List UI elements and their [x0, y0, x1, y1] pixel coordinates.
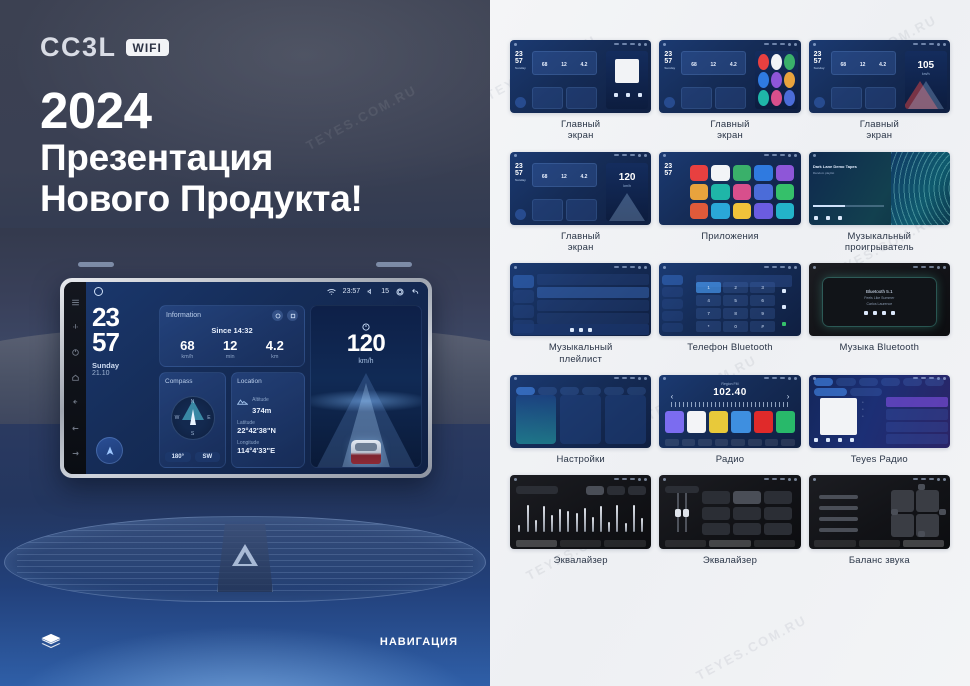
toolbar-button[interactable] — [698, 439, 712, 446]
wifi-icon — [614, 266, 619, 268]
equalizer-band[interactable] — [576, 513, 578, 533]
thumb-tab[interactable] — [903, 540, 944, 547]
equalizer-band[interactable] — [600, 506, 602, 533]
wifi-icon — [614, 43, 619, 45]
altitude-key: Altitude — [252, 397, 269, 403]
carplay-card[interactable] — [560, 395, 601, 443]
bluetooth-controls[interactable] — [864, 311, 895, 315]
clock-icon — [772, 43, 777, 45]
list-item[interactable] — [886, 397, 948, 407]
power-icon[interactable] — [71, 348, 80, 357]
list-item[interactable] — [537, 300, 649, 311]
layers-icon[interactable] — [40, 633, 62, 652]
equalizer-bars — [518, 499, 642, 533]
list-item[interactable] — [537, 287, 649, 298]
thumb-nav-fab — [515, 209, 526, 220]
gallery-item[interactable]: 2357 Sunday 68124.2 105 km/h Главныйэкра… — [809, 40, 950, 142]
clock-icon — [921, 43, 926, 45]
navigation-arrow-icon — [104, 445, 116, 457]
list-item[interactable] — [537, 274, 649, 285]
gallery-item[interactable]: 2357 Приложения — [659, 152, 800, 254]
sidebar-item[interactable] — [513, 290, 534, 303]
back-icon — [794, 43, 797, 46]
screenshot-thumbnail[interactable]: 2357 Sunday 68124.2 105 km/h — [809, 40, 950, 113]
player-controls[interactable] — [814, 216, 842, 220]
thumb-stat: 68 — [542, 62, 548, 68]
stop-icon[interactable] — [826, 438, 830, 442]
balance-down-button[interactable] — [918, 531, 925, 537]
wifi-card[interactable] — [516, 395, 557, 443]
location-widget[interactable]: Location Altitude 374m — [231, 372, 305, 468]
eq-mode-button[interactable] — [702, 491, 730, 504]
thumb-stat: 4.2 — [581, 174, 588, 180]
toolbar-button[interactable] — [765, 439, 779, 446]
list-item[interactable] — [886, 422, 948, 432]
teyes-tab[interactable] — [836, 378, 855, 386]
phone-actions[interactable] — [782, 282, 796, 332]
next-icon[interactable] — [891, 311, 895, 315]
equalizer-band[interactable] — [551, 515, 553, 532]
seat-position[interactable] — [916, 490, 939, 512]
mini-player[interactable] — [513, 324, 649, 335]
gallery-item[interactable]: Настройки — [510, 375, 651, 465]
gallery-item[interactable]: Dark Lane Demo Tapes Random playlist Муз… — [809, 152, 950, 254]
balance-right-button[interactable] — [939, 509, 946, 515]
sidebar-item[interactable] — [662, 275, 683, 285]
equalizer-band[interactable] — [616, 505, 618, 533]
toolbar-button[interactable] — [715, 439, 729, 446]
app-icon — [711, 165, 730, 181]
sidebar-item[interactable] — [513, 305, 534, 318]
station-preset[interactable] — [665, 411, 684, 433]
play-pause-icon[interactable] — [873, 311, 877, 315]
expand-button[interactable] — [287, 310, 298, 321]
teyes-tab[interactable] — [881, 378, 900, 386]
app-icon — [711, 184, 730, 200]
screenshot-thumbnail[interactable]: 2357 Sunday 68124.2 — [510, 40, 651, 113]
head-unit: 23:57 15 23 57 Sunday 21.10 — [60, 278, 432, 478]
app-icon — [754, 184, 773, 200]
next-icon[interactable] — [838, 216, 842, 220]
equalizer-band[interactable] — [592, 517, 594, 532]
eq-mode-button[interactable] — [733, 507, 761, 520]
balance-slider[interactable] — [819, 517, 859, 521]
home-icon[interactable] — [94, 287, 103, 296]
voice-icon[interactable] — [71, 323, 80, 332]
thumb-speed-unit: km/h — [905, 72, 947, 76]
teyes-tab[interactable] — [903, 378, 922, 386]
screenshot-thumbnail[interactable]: 123456789*0# — [659, 263, 800, 336]
next-icon[interactable] — [838, 438, 842, 442]
screenshot-thumbnail[interactable] — [510, 375, 651, 448]
gallery-grid: 2357 Sunday 68124.2 Главныйэкран — [510, 40, 950, 566]
sidebar-item[interactable] — [662, 311, 683, 321]
status-volume: 15 — [381, 288, 389, 295]
list-item[interactable] — [537, 313, 649, 324]
clock-icon — [772, 266, 777, 268]
keypad-key[interactable]: 2 — [723, 282, 748, 293]
screenshot-thumbnail[interactable] — [510, 475, 651, 548]
dial-keypad[interactable]: 123456789*0# — [696, 282, 775, 332]
thumb-tab[interactable] — [560, 540, 601, 547]
home-icon[interactable] — [71, 373, 80, 382]
gear-icon — [788, 154, 791, 157]
gallery-item[interactable]: 2357 Sunday 68124.2 Главныйэкран — [659, 40, 800, 142]
balance-slider[interactable] — [819, 495, 859, 499]
app-icon — [776, 165, 795, 181]
gallery-item[interactable]: 2357 Sunday 68124.2 120 km/h Главныйэкра… — [510, 152, 651, 254]
eq-presets[interactable] — [586, 486, 645, 495]
compass-title: Compass — [165, 378, 220, 385]
teyes-tab[interactable] — [925, 378, 944, 386]
eq-mode-button[interactable] — [764, 491, 792, 504]
sidebar-item[interactable] — [662, 287, 683, 297]
thumb-clock-day: Sunday — [515, 179, 526, 182]
settings-cards[interactable] — [516, 395, 646, 443]
eq-mode-button[interactable] — [764, 523, 792, 536]
gallery-item[interactable]: • • • Teyes Радио — [809, 375, 950, 465]
station-list[interactable] — [886, 397, 948, 444]
volume-icon — [630, 43, 635, 45]
balance-left-button[interactable] — [891, 509, 898, 515]
back-icon — [794, 266, 797, 269]
home-icon — [514, 43, 517, 46]
keypad-key[interactable]: 3 — [750, 282, 775, 293]
balance-seats[interactable] — [891, 490, 939, 537]
volume-icon — [780, 43, 785, 45]
gear-icon[interactable] — [396, 288, 404, 296]
next-icon[interactable] — [638, 93, 642, 97]
balance-sliders[interactable] — [819, 491, 859, 535]
volume-icon — [929, 266, 934, 268]
headline: 2024 Презентация Нового Продукта! — [40, 85, 363, 220]
home-icon — [663, 478, 666, 481]
speed-widget[interactable]: 120 km/h — [310, 305, 422, 468]
equalizer-band[interactable] — [625, 523, 627, 533]
keypad-key[interactable]: 8 — [723, 308, 748, 319]
more-card[interactable] — [605, 395, 646, 443]
call-icon[interactable] — [782, 322, 786, 326]
prev-station-icon[interactable]: ‹ — [671, 392, 674, 401]
information-card[interactable]: Information Since 14:32 — [159, 305, 305, 367]
track-list[interactable] — [537, 274, 649, 323]
list-item[interactable] — [886, 434, 948, 444]
fader-slider[interactable] — [677, 493, 679, 533]
gallery-item[interactable]: Region FM 102.40 ‹ › Радио — [659, 375, 800, 465]
clock-widget[interactable]: 23 57 Sunday 21.10 — [92, 305, 154, 468]
next-icon[interactable] — [588, 328, 592, 332]
thumb-status-bar — [659, 475, 800, 483]
screenshot-thumbnail[interactable]: Bluetooth 5.1 Feels Like Summer Carlos L… — [809, 263, 950, 336]
altitude-block: Altitude 374m — [252, 388, 271, 415]
eq-mode-button[interactable] — [733, 491, 761, 504]
wifi-icon — [913, 43, 918, 45]
stop-icon[interactable] — [882, 311, 886, 315]
balance-up-button[interactable] — [918, 484, 925, 490]
home-icon — [663, 154, 666, 157]
seat-position[interactable] — [891, 514, 914, 536]
volume-down-icon[interactable] — [71, 424, 80, 433]
toolbar-button[interactable] — [781, 439, 795, 446]
volume-icon — [367, 288, 374, 295]
equalizer-band[interactable] — [535, 520, 537, 533]
information-title: Information — [166, 312, 201, 319]
toolbar-button[interactable] — [665, 439, 679, 446]
screenshot-thumbnail[interactable]: Region FM 102.40 ‹ › — [659, 375, 800, 448]
thumbnail-label: Музыка Bluetooth — [840, 342, 920, 353]
screenshot-thumbnail[interactable]: Dark Lane Demo Tapes Random playlist — [809, 152, 950, 225]
road-graphic — [609, 193, 645, 221]
back-icon — [943, 266, 946, 269]
toolbar-button[interactable] — [748, 439, 762, 446]
gallery-item[interactable]: 123456789*0# Телефон Bluetooth — [659, 263, 800, 365]
toolbar-button[interactable] — [682, 439, 696, 446]
equalizer-band[interactable] — [633, 505, 635, 532]
app-icon — [784, 54, 795, 70]
eq-preset-label — [516, 486, 558, 494]
progress-bar[interactable] — [813, 205, 884, 207]
keypad-key[interactable]: 7 — [696, 308, 721, 319]
settings-tab[interactable] — [627, 387, 646, 395]
eq-mode-button[interactable] — [702, 523, 730, 536]
clock-icon — [921, 266, 926, 268]
settings-tab[interactable] — [516, 387, 535, 395]
thumb-clock: 2357 Sunday — [515, 51, 526, 70]
fader-sliders[interactable] — [671, 493, 694, 533]
tuning-dial[interactable] — [671, 402, 790, 407]
keypad-key[interactable]: * — [696, 321, 721, 332]
lower-widgets: Compass N E S W — [159, 372, 305, 468]
thumbnail-label-line1: Радио — [716, 454, 744, 465]
gallery-item[interactable]: Баланс звука — [809, 475, 950, 565]
radio-toolbar[interactable] — [665, 439, 795, 446]
app-icon — [754, 203, 773, 219]
equalizer-band[interactable] — [543, 506, 545, 532]
station-preset[interactable] — [754, 411, 773, 433]
thumbnail-label: Приложения — [701, 231, 759, 242]
status-bar: 23:57 15 — [86, 282, 428, 301]
play-icon[interactable] — [626, 93, 630, 97]
station-preset[interactable] — [709, 411, 728, 433]
sidebar-item[interactable] — [662, 299, 683, 309]
station-preset[interactable] — [731, 411, 750, 433]
thumbnail-label-line2: экран — [866, 130, 892, 141]
eq-mode-button[interactable] — [702, 507, 730, 520]
volume-up-icon[interactable] — [71, 449, 80, 458]
gear-icon — [937, 43, 940, 46]
keypad-key[interactable]: 5 — [723, 295, 748, 306]
screenshot-thumbnail[interactable]: 2357 Sunday 68124.2 120 km/h — [510, 152, 651, 225]
longitude-value: 114°4'33"E — [237, 446, 299, 455]
thumbnail-label-line1: Музыкальный — [847, 231, 911, 242]
teyes-controls[interactable] — [814, 438, 854, 442]
star-icon[interactable] — [782, 289, 786, 293]
thumb-stat: 12 — [561, 174, 567, 180]
settings-tab[interactable] — [604, 387, 623, 395]
thumb-status-right — [764, 478, 797, 481]
next-station-icon[interactable]: › — [787, 392, 790, 401]
teyes-subtab[interactable] — [850, 388, 882, 396]
information-header: Information — [160, 306, 304, 323]
keypad-key[interactable]: 1 — [696, 282, 721, 293]
screenshot-thumbnail[interactable]: 2357 Sunday 68124.2 — [659, 40, 800, 113]
eq-mode-button[interactable] — [733, 523, 761, 536]
thumbnail-label: Баланс звука — [849, 555, 910, 566]
equalizer-band[interactable] — [518, 525, 520, 532]
thumb-tab[interactable] — [516, 540, 557, 547]
gallery-item[interactable]: Bluetooth 5.1 Feels Like Summer Carlos L… — [809, 263, 950, 365]
road-graphic — [908, 81, 944, 109]
thumb-stat: 68 — [841, 62, 847, 68]
list-item[interactable] — [886, 409, 948, 419]
back-icon[interactable] — [71, 399, 80, 408]
settings-tab[interactable] — [582, 387, 601, 395]
gallery-item[interactable]: Эквалайзер — [510, 475, 651, 565]
keypad-key[interactable]: 0 — [723, 321, 748, 332]
thumbnail-label-line1: Главный — [710, 119, 749, 130]
keypad-key[interactable]: 9 — [750, 308, 775, 319]
prev-icon[interactable] — [864, 311, 868, 315]
sidebar-item[interactable] — [513, 275, 534, 288]
screenshot-thumbnail[interactable] — [510, 263, 651, 336]
left-footer: НАВИГАЦИЯ — [0, 616, 490, 686]
equalizer-band[interactable] — [567, 511, 569, 533]
gallery-item[interactable]: 2357 Sunday 68124.2 Главныйэкран — [510, 40, 651, 142]
thumb-lower-cards — [831, 87, 896, 109]
settings-tabs[interactable] — [516, 387, 646, 395]
app-icon — [771, 54, 782, 70]
balance-slider[interactable] — [819, 528, 859, 532]
thumb-tabbar — [516, 540, 646, 547]
thumbnail-label-line1: Эквалайзер — [554, 555, 608, 566]
equalizer-band[interactable] — [584, 508, 586, 533]
balance-slider[interactable] — [819, 506, 859, 510]
thumb-tab[interactable] — [709, 540, 750, 547]
brand-logo: CC3L WIFI — [40, 32, 169, 63]
stat-unit: min — [223, 354, 237, 360]
station-preset[interactable] — [776, 411, 795, 433]
eq-preset[interactable] — [586, 486, 604, 495]
quick-apps-panel — [755, 51, 797, 109]
eq-preset[interactable] — [607, 486, 625, 495]
status-time: 23:57 — [343, 288, 361, 295]
navigation-fab[interactable] — [96, 437, 123, 464]
thumb-tab[interactable] — [604, 540, 645, 547]
backspace-icon[interactable] — [782, 305, 786, 309]
pause-icon[interactable] — [826, 216, 830, 220]
mountain-icon — [237, 397, 248, 406]
stat-unit: km — [266, 354, 284, 360]
station-preset[interactable] — [687, 411, 706, 433]
teyes-tab[interactable] — [814, 378, 833, 386]
menu-icon[interactable] — [71, 298, 80, 307]
screenshot-thumbnail[interactable] — [659, 475, 800, 548]
thumbnail-label: Музыкальныйплейлист — [549, 342, 613, 364]
left-hero-panel: TEYES.COM.RU TEYES.COM.RU TEYES.COM.RU C… — [0, 0, 490, 686]
teyes-top-tabs[interactable] — [814, 378, 944, 386]
location-title: Location — [237, 378, 299, 385]
thumbnail-label: Главныйэкран — [710, 119, 749, 141]
toolbar-button[interactable] — [731, 439, 745, 446]
favorite-icon[interactable] — [850, 438, 854, 442]
thumbnail-label-line2: экран — [568, 242, 594, 253]
teyes-tab[interactable] — [859, 378, 878, 386]
station-presets[interactable] — [665, 411, 795, 433]
gallery-item[interactable]: Музыкальныйплейлист — [510, 263, 651, 365]
screenshot-thumbnail[interactable]: • • • — [809, 375, 950, 448]
back-icon[interactable] — [411, 288, 420, 296]
media-controls[interactable] — [614, 93, 642, 97]
equalizer-band[interactable] — [559, 509, 561, 533]
prev-icon[interactable] — [614, 93, 618, 97]
prev-icon[interactable] — [814, 216, 818, 220]
thumb-tab[interactable] — [859, 540, 900, 547]
bluetooth-card: Bluetooth 5.1 Feels Like Summer Carlos L… — [823, 278, 936, 326]
keypad-key[interactable]: 4 — [696, 295, 721, 306]
speed-unit: km/h — [311, 358, 421, 365]
screenshot-thumbnail[interactable] — [809, 475, 950, 548]
pause-icon[interactable] — [579, 328, 583, 332]
thumb-status-right — [614, 377, 647, 380]
stat-item: 12 min — [223, 339, 237, 360]
app-icon — [758, 90, 769, 106]
refresh-button[interactable] — [272, 310, 283, 321]
thumb-tab[interactable] — [814, 540, 855, 547]
thumb-status-bar — [510, 40, 651, 48]
presentation-slide: TEYES.COM.RU TEYES.COM.RU TEYES.COM.RU C… — [0, 0, 970, 686]
eq-preset[interactable] — [628, 486, 646, 495]
app-icon — [784, 90, 795, 106]
screenshot-thumbnail[interactable]: 2357 — [659, 152, 800, 225]
prev-icon[interactable] — [570, 328, 574, 332]
clock-icon — [622, 154, 627, 156]
thumb-location-card — [566, 199, 597, 221]
thumb-compass-card — [681, 87, 712, 109]
vent-knob-right — [376, 262, 412, 267]
head-unit-body: 23 57 Sunday 21.10 Information — [86, 301, 428, 474]
wifi-icon — [764, 43, 769, 45]
compass-widget[interactable]: Compass N E S W — [159, 372, 226, 468]
equalizer-band[interactable] — [608, 522, 610, 532]
car-render — [351, 440, 381, 464]
navigation-label: НАВИГАЦИЯ — [380, 636, 458, 648]
prev-icon[interactable] — [814, 438, 818, 442]
thumb-tab[interactable] — [754, 540, 795, 547]
thumb-status-right — [913, 43, 946, 46]
settings-tab[interactable] — [538, 387, 557, 395]
equalizer-band[interactable] — [527, 505, 529, 532]
sidebar-item[interactable] — [662, 323, 683, 333]
keypad-key[interactable]: 6 — [750, 295, 775, 306]
eq-mode-button[interactable] — [764, 507, 792, 520]
fader-slider[interactable] — [685, 493, 687, 533]
phone-sidebar[interactable] — [661, 274, 684, 333]
teyes-sub-tabs[interactable] — [814, 388, 882, 396]
thumb-tab[interactable] — [665, 540, 706, 547]
gallery-item[interactable]: Эквалайзер — [659, 475, 800, 565]
head-unit-button-rail[interactable] — [64, 282, 86, 474]
keypad-key[interactable]: # — [750, 321, 775, 332]
eq-mode-buttons[interactable] — [702, 491, 792, 535]
equalizer-band[interactable] — [641, 518, 643, 533]
head-unit-screen[interactable]: 23:57 15 23 57 Sunday 21.10 — [86, 282, 428, 474]
track-artist: Random playlist — [813, 171, 886, 175]
gear-icon — [638, 377, 641, 380]
thumb-compass-card — [532, 87, 563, 109]
teyes-subtab[interactable] — [814, 388, 846, 396]
latitude-value: 22°42'38"N — [237, 426, 299, 435]
settings-tab[interactable] — [560, 387, 579, 395]
